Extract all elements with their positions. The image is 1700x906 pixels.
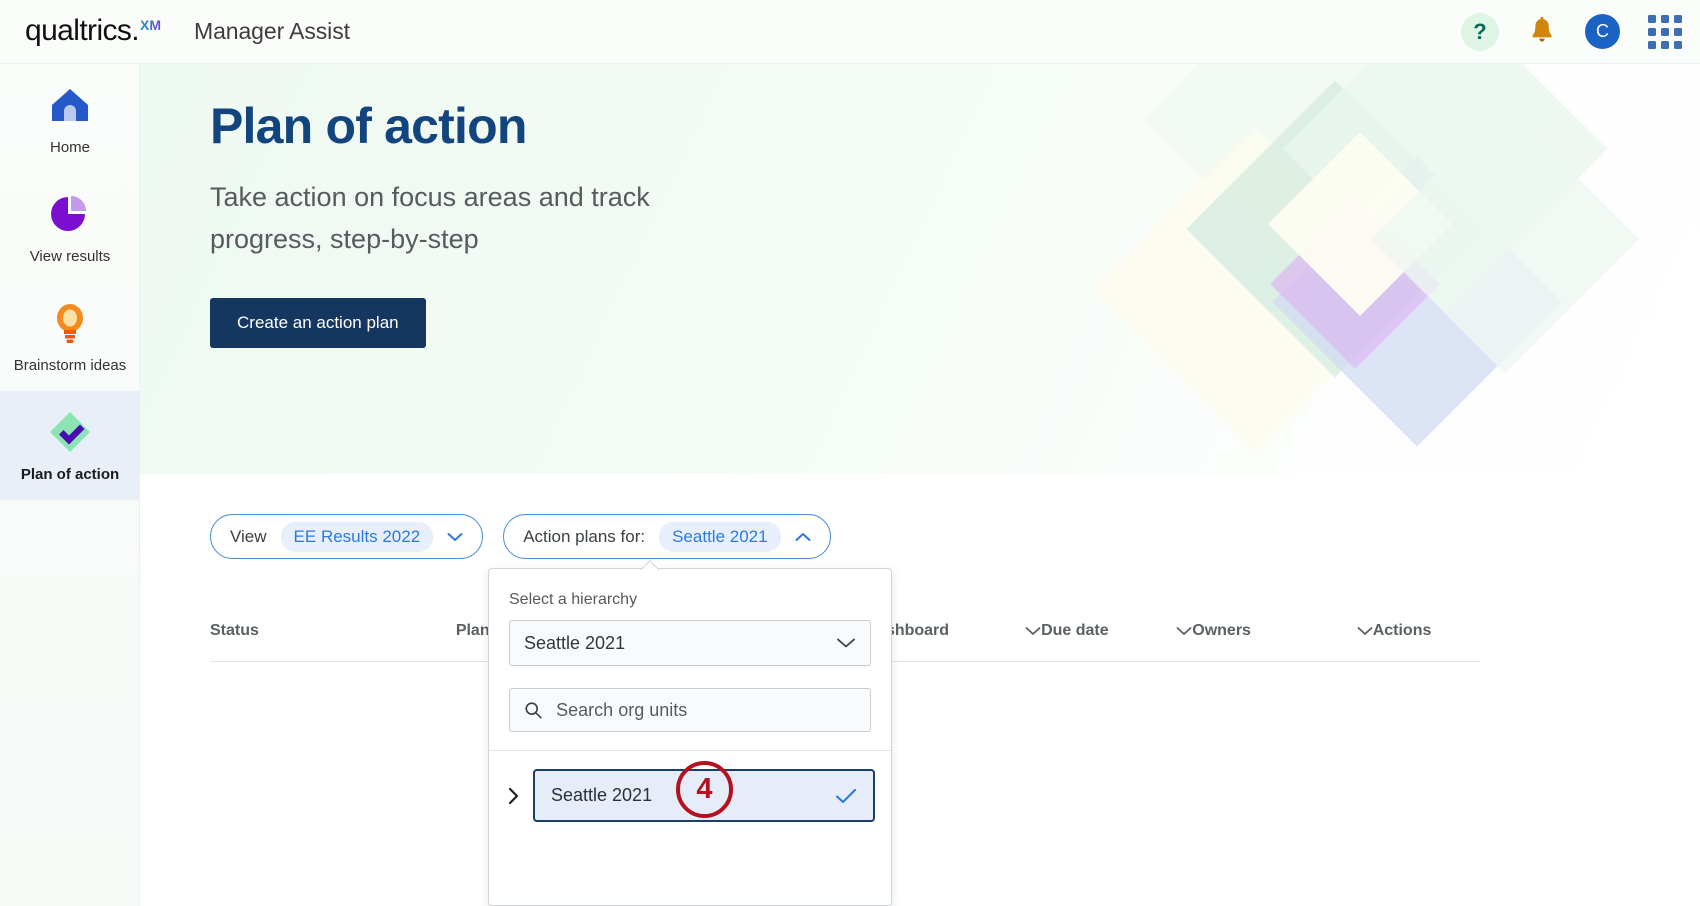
org-unit-label: Seattle 2021 xyxy=(551,785,652,806)
diamond-check-icon xyxy=(46,409,94,455)
column-label: Plan xyxy=(456,622,490,640)
sidebar-item-home[interactable]: Home xyxy=(0,64,140,173)
sidebar-item-label: Home xyxy=(50,138,90,157)
column-label: Owners xyxy=(1192,622,1251,640)
top-bar: qualtrics. XM Manager Assist ? C xyxy=(0,0,1700,64)
hero-content: Plan of action Take action on focus area… xyxy=(210,96,730,348)
home-icon xyxy=(48,82,92,128)
org-unit-option-seattle-2021[interactable]: Seattle 2021 xyxy=(533,769,875,822)
sidebar: Home View results Brainstorm ideas xyxy=(0,64,140,906)
column-label: Due date xyxy=(1041,622,1109,640)
hero-banner: Plan of action Take action on focus area… xyxy=(140,64,1700,474)
column-header-actions: Actions xyxy=(1373,622,1480,640)
select-hierarchy-label: Select a hierarchy xyxy=(489,569,891,609)
search-icon xyxy=(524,700,542,720)
logo-wordmark: qualtrics. xyxy=(25,12,139,50)
pie-chart-icon xyxy=(48,191,92,237)
action-plans-for-filter-pill[interactable]: Action plans for: Seattle 2021 xyxy=(503,514,830,559)
column-header-owners[interactable]: Owners xyxy=(1192,622,1372,640)
chevron-down-icon[interactable] xyxy=(1025,626,1041,636)
list-item: Seattle 2021 xyxy=(505,769,875,822)
org-unit-search[interactable] xyxy=(509,688,871,732)
sidebar-item-label: Brainstorm ideas xyxy=(14,356,127,375)
grid-apps-icon[interactable] xyxy=(1648,15,1682,49)
bell-icon[interactable] xyxy=(1527,16,1557,48)
check-icon xyxy=(835,788,857,804)
chevron-up-icon[interactable] xyxy=(795,532,811,542)
view-filter-pill[interactable]: View EE Results 2022 xyxy=(210,514,483,559)
column-label: Status xyxy=(210,622,259,640)
org-unit-list: Seattle 2021 xyxy=(489,751,891,822)
avatar[interactable]: C xyxy=(1585,14,1620,49)
hierarchy-dropdown-panel: Select a hierarchy Seattle 2021 Seattle … xyxy=(488,568,892,906)
dropdown-caret xyxy=(641,560,659,570)
chevron-right-icon[interactable] xyxy=(505,787,523,805)
qualtrics-logo[interactable]: qualtrics. XM xyxy=(25,12,161,52)
sidebar-item-label: View results xyxy=(30,247,111,266)
logo-xm-superscript: XM xyxy=(140,18,161,32)
help-button[interactable]: ? xyxy=(1461,13,1499,51)
action-plans-for-value: Seattle 2021 xyxy=(659,522,780,552)
search-input[interactable] xyxy=(554,699,856,722)
sidebar-item-view-results[interactable]: View results xyxy=(0,173,140,282)
top-bar-actions: ? C xyxy=(1461,13,1682,51)
filter-row: View EE Results 2022 Action plans for: S… xyxy=(210,514,831,559)
column-label: Actions xyxy=(1373,622,1432,640)
view-filter-value: EE Results 2022 xyxy=(281,522,434,552)
decorative-diamonds xyxy=(1080,64,1700,474)
chevron-down-icon[interactable] xyxy=(447,532,463,542)
question-mark-icon: ? xyxy=(1473,21,1486,43)
lightbulb-icon xyxy=(53,300,87,346)
create-action-plan-button[interactable]: Create an action plan xyxy=(210,298,426,348)
app-title: Manager Assist xyxy=(194,18,350,45)
hierarchy-select-value: Seattle 2021 xyxy=(524,633,625,654)
column-header-status[interactable]: Status xyxy=(210,622,456,640)
avatar-initial: C xyxy=(1596,21,1609,42)
action-plans-for-label: Action plans for: xyxy=(523,527,645,547)
chevron-down-icon[interactable] xyxy=(1357,626,1373,636)
sidebar-item-plan-of-action[interactable]: Plan of action xyxy=(0,391,140,500)
view-filter-label: View xyxy=(230,527,267,547)
page-title: Plan of action xyxy=(210,96,730,156)
chevron-down-icon[interactable] xyxy=(836,637,856,649)
column-header-due-date[interactable]: Due date xyxy=(1041,622,1192,640)
hero-subtitle: Take action on focus areas and track pro… xyxy=(210,176,730,260)
hierarchy-select[interactable]: Seattle 2021 xyxy=(509,620,871,666)
sidebar-item-brainstorm-ideas[interactable]: Brainstorm ideas xyxy=(0,282,140,391)
sidebar-item-label: Plan of action xyxy=(21,465,119,484)
chevron-down-icon[interactable] xyxy=(1176,626,1192,636)
